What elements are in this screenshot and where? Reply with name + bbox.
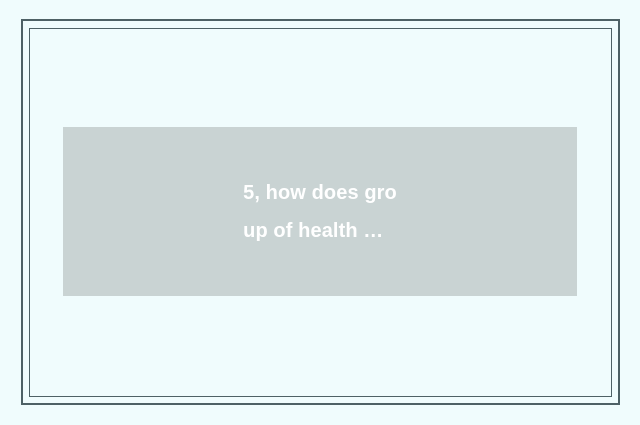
caption-line-1: 5, how does gro	[243, 174, 397, 212]
caption-text-block: 5, how does gro up of health …	[243, 174, 397, 250]
caption-line-2: up of health …	[243, 212, 397, 250]
media-placeholder-panel: 5, how does gro up of health …	[63, 127, 577, 296]
page-canvas: 5, how does gro up of health …	[0, 0, 640, 425]
